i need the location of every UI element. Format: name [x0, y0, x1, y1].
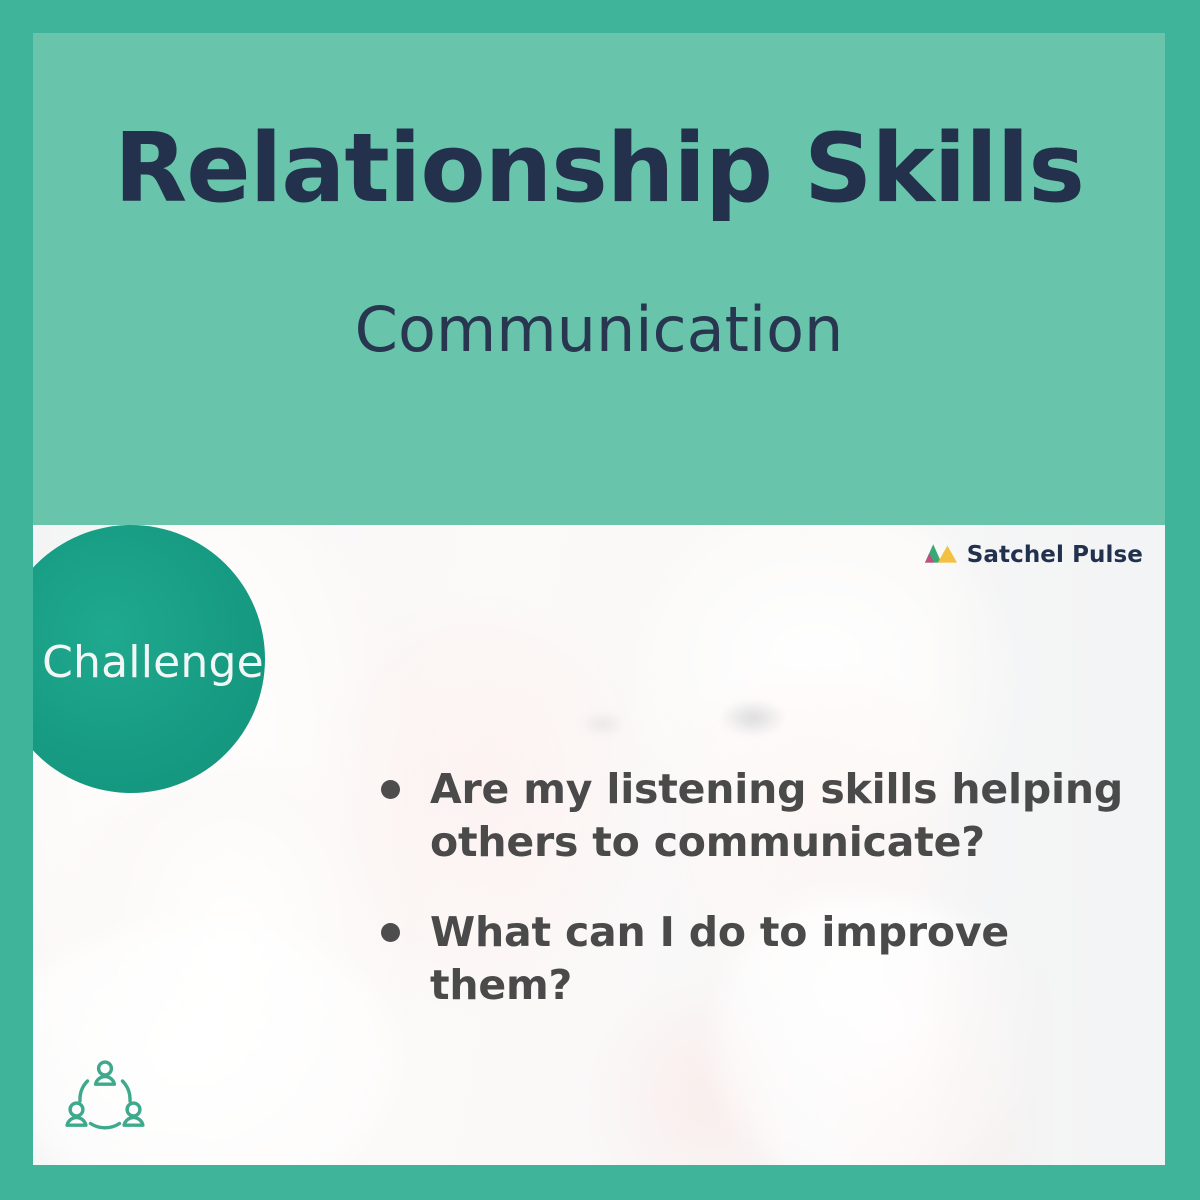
bullet-dot-icon — [381, 923, 400, 942]
list-item: What can I do to improve them? — [381, 906, 1141, 1013]
challenge-question-list: Are my listening skills helping others t… — [381, 763, 1141, 1012]
two-mountains-icon — [924, 541, 958, 569]
brand-logo: Satchel Pulse — [924, 541, 1143, 569]
slide-card: Relationship Skills Communication Challe… — [0, 0, 1200, 1200]
list-item-text: Are my listening skills helping others t… — [430, 763, 1141, 870]
list-item: Are my listening skills helping others t… — [381, 763, 1141, 870]
three-people-network-icon — [57, 1051, 153, 1147]
list-item-text: What can I do to improve them? — [430, 906, 1141, 1013]
content-panel: Challenge Satchel Pulse Are my listening… — [33, 525, 1165, 1165]
page-subtitle: Communication — [33, 296, 1165, 364]
challenge-badge-label: Challenge — [33, 633, 264, 685]
header-panel: Relationship Skills Communication — [33, 33, 1165, 525]
page-title: Relationship Skills — [33, 121, 1165, 218]
brand-name: Satchel Pulse — [967, 544, 1143, 567]
bullet-dot-icon — [381, 780, 400, 799]
